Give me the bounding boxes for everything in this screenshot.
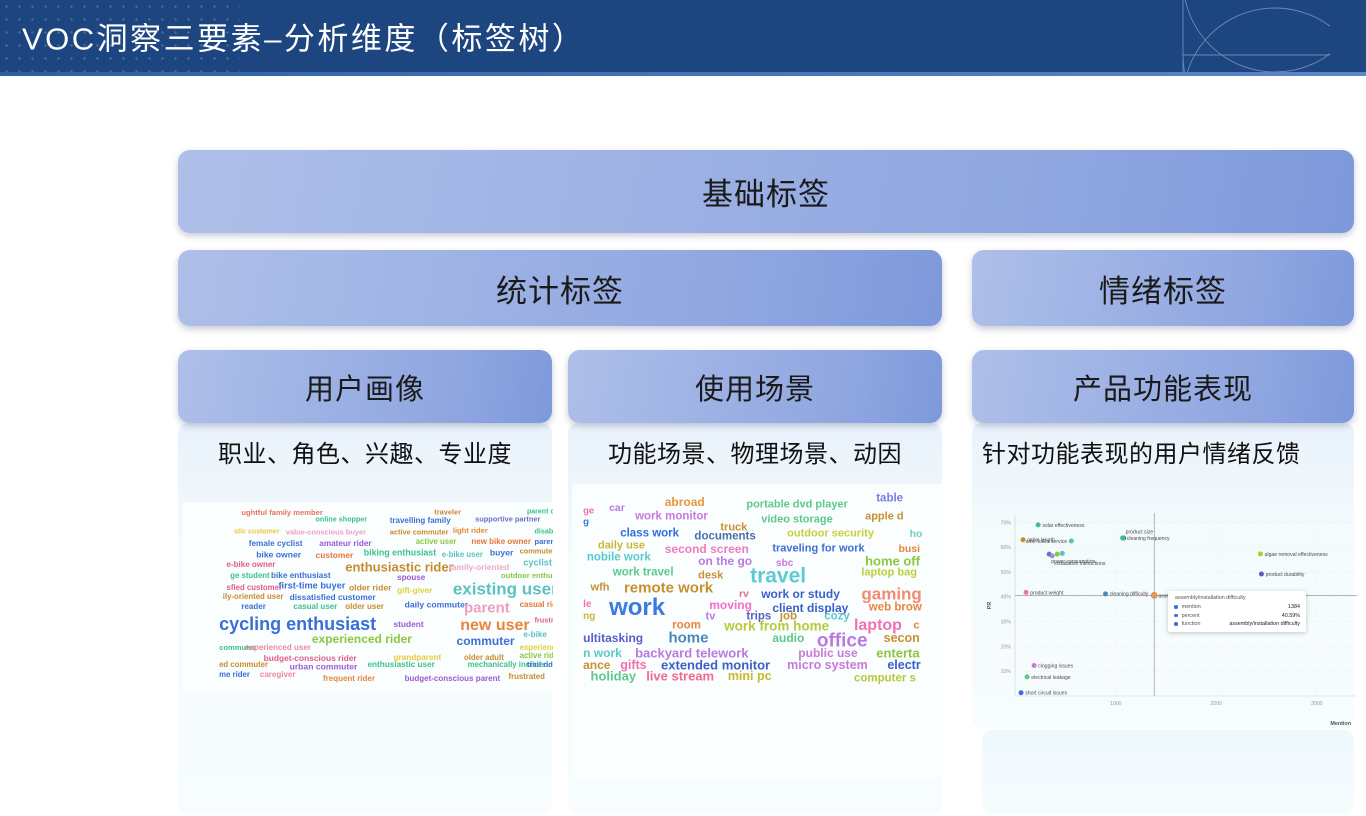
wordcloud-term: light rider <box>453 527 488 535</box>
wordcloud-term: amateur rider <box>319 540 371 548</box>
tag-box-persona[interactable]: 用户画像 <box>178 350 552 423</box>
wordcloud-term: holiday <box>591 670 637 683</box>
wordcloud-term: secon <box>884 632 920 645</box>
wordcloud-term: e-bike owner <box>227 561 276 569</box>
y-tick-label: 40% <box>1001 595 1012 601</box>
wordcloud-term: wfh <box>591 582 610 593</box>
scatter-point[interactable]: short circuit issues <box>1019 690 1068 696</box>
y-tick-label: 60% <box>1001 545 1012 551</box>
wordcloud-term: stic customer <box>234 529 280 536</box>
wordcloud-term: active user <box>416 538 457 546</box>
wordcloud-term: nobile work <box>587 552 651 564</box>
wordcloud-term: active commuter <box>390 529 449 536</box>
x-axis-title: Mention <box>1330 721 1351 727</box>
caption-feature: 针对功能表现的用户情绪反馈 <box>972 434 1354 469</box>
wordcloud-scene: gecarabroadportable dvd playertablework … <box>572 484 943 780</box>
y-tick-label: 10% <box>1001 669 1012 675</box>
wordcloud-term: on the go <box>698 555 752 567</box>
tooltip-value: 40.59% <box>1282 613 1300 619</box>
scatter-point-label: product durability <box>1266 572 1305 578</box>
wordcloud-term: cycling enthusiast <box>219 615 376 633</box>
y-tick-label: 50% <box>1001 570 1012 576</box>
header-underline <box>0 72 1366 76</box>
scatter-point[interactable]: electrical leakage <box>1025 674 1071 680</box>
wordcloud-term: older user <box>345 603 384 611</box>
wordcloud-term: audio <box>772 632 804 644</box>
scatter-point[interactable]: product durability <box>1259 572 1305 578</box>
scatter-point-label: installation instructions <box>1054 561 1106 567</box>
y-tick-label: 30% <box>1001 620 1012 626</box>
wordcloud-term: web brow <box>869 603 922 615</box>
wordcloud-term: first-time buyer <box>278 581 345 590</box>
wordcloud-term: rv <box>739 588 749 599</box>
x-tick-label: 1000 <box>1110 701 1122 707</box>
wordcloud-term: travelling family <box>390 517 451 525</box>
tooltip-title: assembly/installation difficulty <box>1174 595 1300 601</box>
wordcloud-term: commuter <box>457 635 515 647</box>
wordcloud-term: experienced user <box>245 644 311 652</box>
wordcloud-term: family-oriented <box>449 562 509 570</box>
scatter-point[interactable]: cleaning frequency <box>1120 536 1170 542</box>
wordcloud-term: work monitor <box>635 511 708 523</box>
wordcloud-term: travel <box>750 565 806 586</box>
wordcloud-term: ge <box>583 506 594 516</box>
caption-persona: 职业、角色、兴趣、专业度 <box>178 434 552 469</box>
wordcloud-term: traveler <box>434 508 461 515</box>
wordcloud-term: ho <box>910 529 923 540</box>
wordcloud-term: gaming <box>861 585 921 602</box>
scatter-point-label: product weight <box>1030 590 1064 596</box>
wordcloud-term: buyer <box>490 549 513 558</box>
scatter-point-label: after-sales service <box>1026 539 1067 545</box>
wordcloud-term: value-conscious buyer <box>286 529 366 536</box>
wordcloud-term: budget-conscious rider <box>264 654 357 662</box>
scatter-point[interactable] <box>1060 551 1065 556</box>
wordcloud-term: class work <box>620 529 679 541</box>
tooltip-value: assembly/installation difficulty <box>1229 621 1300 627</box>
x-tick-label: 2000 <box>1210 701 1222 707</box>
wordcloud-term: disabled use <box>534 527 553 534</box>
scatter-point[interactable]: solar effectiveness <box>1036 522 1085 528</box>
page-title: VOC洞察三要素–分析维度（标签树） <box>22 14 585 59</box>
wordcloud-term: parent or <box>534 538 553 546</box>
wordcloud-term: live stream <box>646 670 714 683</box>
wordcloud-term: commuter rider <box>520 548 553 555</box>
header-geometry-decoration <box>1070 0 1330 72</box>
tooltip-key: function <box>1182 621 1201 627</box>
scatter-point-label: electrical leakage <box>1031 675 1071 681</box>
wordcloud-term: bike enthusiast <box>271 572 331 580</box>
wordcloud-term: caregiver <box>260 671 296 679</box>
wordcloud-term: table <box>876 493 903 505</box>
wordcloud-term: older rider <box>349 583 392 592</box>
wordcloud-term: supportive partner <box>475 515 540 522</box>
scatter-point-label: cleaning frequency <box>1127 536 1170 542</box>
scatter-point-label: short circuit issues <box>1025 691 1067 697</box>
wordcloud-term: frustra <box>534 616 553 623</box>
wordcloud-term: budget-conscious parent <box>405 675 501 683</box>
wordcloud-term: bike owner <box>256 551 301 560</box>
wordcloud-term: spouse <box>397 574 425 582</box>
wordcloud-term: apple d <box>865 511 904 522</box>
wordcloud-term: g <box>583 518 589 528</box>
wordcloud-term: ng <box>583 612 595 622</box>
tooltip-key: percent <box>1182 613 1200 619</box>
wordcloud-term: ed commuter <box>219 661 268 669</box>
wordcloud-term: enthusiastic user <box>368 661 435 669</box>
bullet-icon <box>1174 622 1178 626</box>
wordcloud-term: ily-oriented user <box>223 593 284 601</box>
wordcloud-term: portable dvd player <box>746 499 847 510</box>
scatter-point[interactable]: clogging issues <box>1032 663 1074 669</box>
wordcloud-term: frequent rider <box>323 675 375 683</box>
wordcloud-term: home <box>668 630 708 645</box>
wordcloud-term: work <box>609 596 665 620</box>
wordcloud-term: mini pc <box>728 670 772 683</box>
wordcloud-term: work travel <box>613 567 674 579</box>
tooltip-value: 1384 <box>1288 604 1300 610</box>
tooltip-key: mention <box>1182 604 1201 610</box>
y-axis-title: PR <box>987 602 993 610</box>
tooltip-row-function: function assembly/installation difficult… <box>1174 621 1300 627</box>
y-tick-label: 70% <box>1001 520 1012 526</box>
wordcloud-term: computer s <box>854 674 916 686</box>
wordcloud-term: gift-giver <box>397 587 432 595</box>
wordcloud-term: online shopper <box>316 515 368 522</box>
tag-box-feature-label: 产品功能表现 <box>1073 366 1253 408</box>
wordcloud-term: tv <box>706 612 716 623</box>
tag-box-emotion[interactable]: 情绪标签 <box>972 250 1354 326</box>
wordcloud-term: ughtful family member <box>241 510 322 518</box>
wordcloud-term: micro system <box>787 658 868 671</box>
wordcloud-term: work or study <box>761 588 840 600</box>
slide-header: VOC洞察三要素–分析维度（标签树） <box>0 0 1366 72</box>
wordcloud-term: e-bike user <box>442 551 483 559</box>
wordcloud-term: e-bike <box>523 631 547 639</box>
tag-box-base-label: 基础标签 <box>702 169 830 214</box>
scatter-point[interactable] <box>1055 552 1060 557</box>
wordcloud-term: traveling for work <box>772 544 864 555</box>
wordcloud-term: reader <box>241 603 265 611</box>
wordcloud-term: active rider <box>520 652 553 660</box>
wordcloud-term: parent <box>464 601 510 616</box>
slide-root: VOC洞察三要素–分析维度（标签树） 基础标签 统计标签 情绪标签 用户画像 使… <box>0 0 1366 816</box>
scatter-point[interactable]: after-sales service <box>1026 539 1074 545</box>
tag-box-statistics-label: 统计标签 <box>496 266 624 311</box>
wordcloud-term: new bike owner <box>471 538 531 546</box>
scatter-point[interactable]: product weight <box>1024 590 1064 596</box>
wordcloud-term: experienced rider <box>312 633 412 645</box>
wordcloud-term: student <box>393 619 423 627</box>
wordcloud-term: trail rider <box>527 662 553 670</box>
wordcloud-term: new user <box>460 618 529 634</box>
tag-box-emotion-label: 情绪标签 <box>1099 266 1227 311</box>
tooltip-row-percent: percent 40.59% <box>1174 613 1300 619</box>
scatter-point-label: algae removal effectiveness <box>1265 552 1329 558</box>
wordcloud-term: ge student <box>230 572 269 580</box>
wordcloud-term: female cyclist <box>249 540 303 548</box>
tag-box-statistics[interactable]: 统计标签 <box>178 250 942 326</box>
tooltip-row-mention: mention 1384 <box>1174 604 1300 610</box>
wordcloud-term: cyclist <box>523 558 552 567</box>
chart-tooltip: assembly/installation difficulty mention… <box>1168 591 1306 632</box>
wordcloud-term: enthusiastic rider <box>345 560 453 573</box>
wordcloud-term: outdoor security <box>787 529 874 540</box>
tag-box-feature[interactable]: 产品功能表现 <box>972 350 1354 423</box>
y-tick-label: 20% <box>1001 644 1012 650</box>
wordcloud-term: me rider <box>219 671 250 679</box>
tag-box-scene-label: 使用场景 <box>695 366 815 408</box>
panel-feature-secondary <box>982 730 1354 813</box>
wordcloud-term: car <box>609 502 625 513</box>
wordcloud-term: electr <box>887 658 920 671</box>
wordcloud-term: casual user <box>293 603 337 611</box>
bullet-icon <box>1174 605 1178 609</box>
wordcloud-persona: ughtful family memberonline shoppertrave… <box>182 502 553 692</box>
wordcloud-term: urban commuter <box>290 663 358 672</box>
x-tick-label: 3000 <box>1311 701 1323 707</box>
scatter-point[interactable]: algae removal effectiveness <box>1258 551 1328 557</box>
wordcloud-term: remote work <box>624 580 713 595</box>
scatter-point-label: clogging issues <box>1038 663 1073 669</box>
caption-scene: 功能场景、物理场景、动因 <box>568 434 942 469</box>
wordcloud-term: parent of teen <box>527 508 553 515</box>
wordcloud-term: daily commuter <box>405 600 469 609</box>
scatter-point-label: product size <box>1126 530 1154 536</box>
wordcloud-term: video storage <box>761 514 833 525</box>
scatter-point-label: solar effectiveness <box>1042 523 1085 529</box>
bullet-icon <box>1174 614 1178 618</box>
scatter-point[interactable]: cleaning difficulty <box>1103 591 1149 597</box>
tag-box-base[interactable]: 基础标签 <box>178 150 1354 233</box>
tag-box-persona-label: 用户画像 <box>305 366 425 408</box>
wordcloud-term: le <box>583 600 591 610</box>
wordcloud-term: outdoor enthusias <box>501 572 553 580</box>
wordcloud-term: sfied customer <box>227 584 282 592</box>
wordcloud-term: frustrated <box>508 673 544 681</box>
wordcloud-term: abroad <box>665 496 705 508</box>
tag-box-scene[interactable]: 使用场景 <box>568 350 942 423</box>
wordcloud-term: daily use <box>598 541 645 552</box>
wordcloud-term: biking enthusiast <box>364 549 436 558</box>
wordcloud-term: laptop bag <box>861 567 917 578</box>
wordcloud-term: ultitasking <box>583 632 643 644</box>
wordcloud-term: existing user <box>453 581 553 598</box>
scatter-point-label: cleaning difficulty <box>1110 592 1149 598</box>
wordcloud-term: casual rider <box>520 601 553 609</box>
wordcloud-term: dissatisfied customer <box>290 593 376 601</box>
